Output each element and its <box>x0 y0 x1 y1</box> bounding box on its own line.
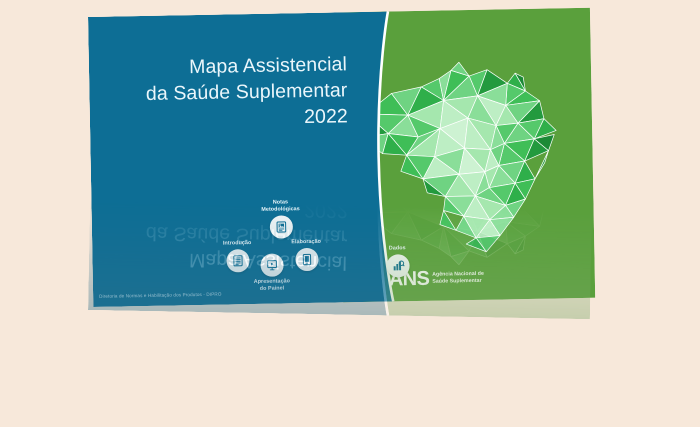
nav-label-notas: Notas Metodológicas <box>243 199 317 214</box>
nav-label-introducao: Introdução <box>200 240 274 248</box>
nav-label-elaboracao: Elaboração <box>269 238 343 246</box>
nav-label-apresentacao: Apresentação do Painel <box>235 278 309 293</box>
slide-stage: ANS Agência Nacional de Saúde Suplementa… <box>0 0 700 427</box>
ans-subtitle-line1: Agência Nacional de <box>432 270 484 277</box>
nav-label-dados: Dados <box>360 245 434 253</box>
ans-subtitle-line2: Saúde Suplementar <box>432 277 481 284</box>
presentation-play-icon[interactable] <box>260 253 283 276</box>
ans-subtitle: Agência Nacional de Saúde Suplementar <box>432 270 484 285</box>
nav-item-dados[interactable]: Dados <box>360 245 435 278</box>
bar-chart-icon[interactable] <box>386 254 409 277</box>
nav-item-apresentacao-do-painel[interactable]: Apresentação do Painel <box>234 253 309 293</box>
nav-icon-cluster: Notas Metodológicas <box>88 11 405 307</box>
presentation-card[interactable]: ANS Agência Nacional de Saúde Suplementa… <box>88 8 595 307</box>
nav-item-notas-metodologicas[interactable]: Notas Metodológicas <box>243 199 318 239</box>
document-image-icon[interactable] <box>269 215 292 238</box>
